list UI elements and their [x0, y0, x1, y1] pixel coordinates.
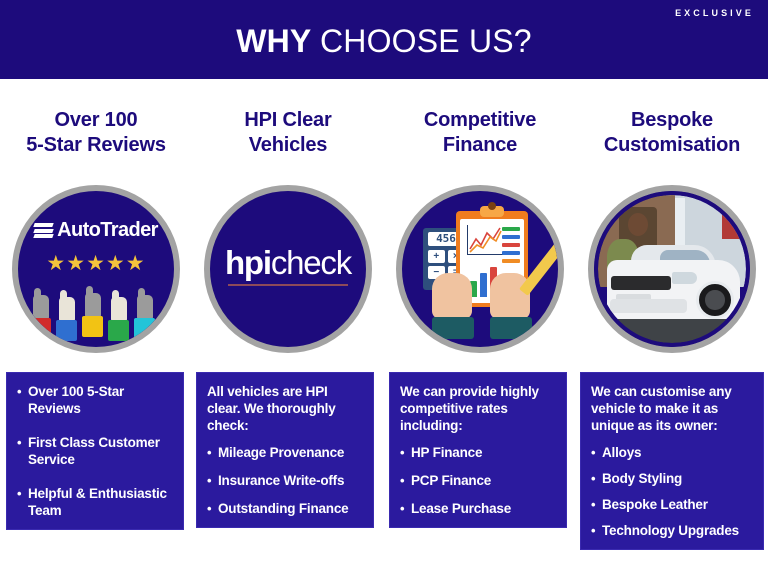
brand-tag: EXCLUSIVE: [675, 8, 754, 18]
badge-inner: AutoTrader ★★★★★: [18, 191, 174, 347]
hpi-check-wordmark: hpicheck: [210, 245, 366, 281]
list-item: Technology Upgrades: [591, 522, 754, 539]
list-item: Helpful & Enthusiastic Team: [17, 485, 174, 519]
page-title-strong: WHY: [236, 23, 320, 59]
car-photo-image: [598, 195, 746, 343]
column-title-line2: Vehicles: [249, 134, 327, 156]
feature-box-reviews: Over 100 5-Star Reviews First Class Cust…: [6, 372, 184, 530]
hand-left-icon: [432, 273, 476, 339]
badge-hpi-check: hpicheck: [204, 185, 372, 353]
list-item: Bespoke Leather: [591, 496, 754, 513]
hpi-underline: [228, 284, 348, 286]
column-title-line2: 5-Star Reviews: [26, 134, 166, 156]
page-header: EXCLUSIVE WHY CHOOSE US?: [0, 0, 768, 79]
box-intro-text: All vehicles are HPI clear. We thoroughl…: [207, 383, 364, 434]
column-title-finance: Competitive Finance: [387, 108, 573, 158]
list-item: Insurance Write-offs: [207, 472, 364, 489]
badge-autotrader: AutoTrader ★★★★★: [12, 185, 180, 353]
feature-box-hpi: All vehicles are HPI clear. We thoroughl…: [196, 372, 374, 528]
column-title-bespoke: Bespoke Customisation: [579, 108, 765, 158]
hpi-check-logo: hpicheck: [210, 245, 366, 286]
feature-column-bespoke: Bespoke Customisation: [576, 79, 768, 576]
column-title-line2: Customisation: [604, 134, 740, 156]
thumbs-up-icon: [30, 295, 51, 339]
list-item: Alloys: [591, 444, 754, 461]
thumbs-up-icons: [18, 281, 174, 341]
feature-box-finance: We can provide highly competitive rates …: [389, 372, 567, 528]
clipboard-clip: [480, 206, 504, 217]
badge-inner: [594, 191, 750, 347]
badge-inner: 456 + × − =: [402, 191, 558, 347]
column-title-line1: HPI Clear: [244, 109, 331, 131]
list-item: Lease Purchase: [400, 500, 557, 517]
feature-column-finance: Competitive Finance 456 + × − =: [384, 79, 576, 576]
list-item: Over 100 5-Star Reviews: [17, 383, 174, 417]
feature-column-reviews: Over 100 5-Star Reviews AutoTrader ★★★★★: [0, 79, 192, 576]
thumbs-up-icon: [134, 295, 155, 339]
column-title-line1: Competitive: [424, 109, 536, 131]
bullet-list-bespoke: Alloys Body Styling Bespoke Leather Tech…: [591, 444, 754, 539]
feature-column-hpi: HPI Clear Vehicles hpicheck All vehicles…: [192, 79, 384, 576]
column-title-hpi: HPI Clear Vehicles: [195, 108, 381, 158]
column-title-line1: Over 100: [55, 109, 138, 131]
autotrader-wordmark: AutoTrader: [57, 219, 158, 242]
list-item: Body Styling: [591, 470, 754, 487]
hpi-bold-text: hpi: [225, 244, 271, 281]
box-intro-text: We can provide highly competitive rates …: [400, 383, 557, 434]
hpi-light-text: check: [271, 244, 351, 281]
list-item: Mileage Provenance: [207, 444, 364, 461]
line-chart-icon: [467, 225, 503, 255]
thumbs-up-icon: [56, 297, 77, 341]
box-intro-text: We can customise any vehicle to make it …: [591, 383, 754, 434]
feature-columns: Over 100 5-Star Reviews AutoTrader ★★★★★: [0, 79, 768, 576]
thumbs-up-icon: [82, 293, 103, 337]
list-item: HP Finance: [400, 444, 557, 461]
badge-finance: 456 + × − =: [396, 185, 564, 353]
list-item: First Class Customer Service: [17, 434, 174, 468]
thumbs-up-icon: [108, 297, 129, 341]
column-title-reviews: Over 100 5-Star Reviews: [3, 108, 189, 158]
autotrader-mark-icon: [34, 223, 53, 238]
badge-inner: hpicheck: [210, 191, 366, 347]
list-item: Outstanding Finance: [207, 500, 364, 517]
page-title-light: CHOOSE US?: [320, 23, 532, 59]
column-title-line1: Bespoke: [631, 109, 713, 131]
calculator-key: +: [428, 250, 445, 263]
list-item: PCP Finance: [400, 472, 557, 489]
star-rating-icons: ★★★★★: [18, 253, 174, 274]
column-title-line2: Finance: [443, 134, 517, 156]
bullet-list-hpi: Mileage Provenance Insurance Write-offs …: [207, 444, 364, 517]
autotrader-logo: AutoTrader: [18, 219, 174, 242]
feature-box-bespoke: We can customise any vehicle to make it …: [580, 372, 764, 550]
finance-illustration: 456 + × − =: [402, 191, 558, 347]
badge-car-photo: [588, 185, 756, 353]
chart-legend: [502, 227, 520, 267]
bullet-list-reviews: Over 100 5-Star Reviews First Class Cust…: [17, 383, 174, 519]
bullet-list-finance: HP Finance PCP Finance Lease Purchase: [400, 444, 557, 517]
page-title: WHY CHOOSE US?: [0, 22, 768, 60]
